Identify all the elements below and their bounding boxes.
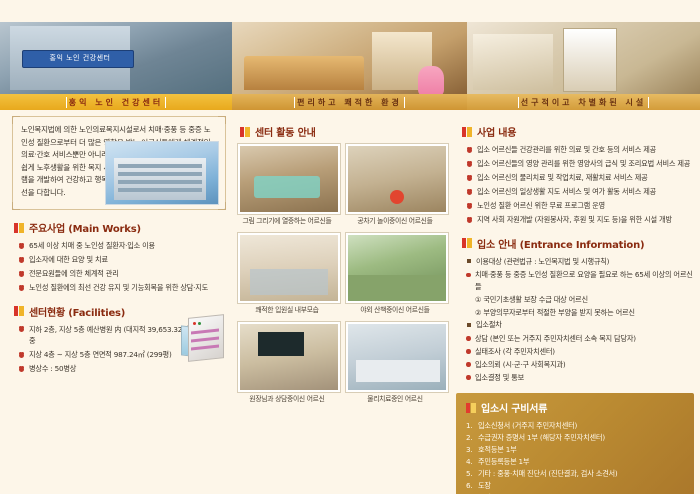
photo-caption: 공차기 놀이중이신 어르신들 xyxy=(346,217,444,226)
section-marker-icon xyxy=(462,238,472,248)
entrance-information-title: 입소 안내 (Entrance Information) xyxy=(477,236,644,251)
list-item: 상담 (본인 또는 거주지 주민자치센터 소속 복지 담당자) xyxy=(465,333,694,345)
banner-caption-2: 편리하고 쾌적한 환경 xyxy=(232,94,467,110)
photo-item: 공차기 놀이중이신 어르신들 xyxy=(346,144,444,226)
list-item: 입소 어르신들 건강관리를 위한 의료 및 간호 등의 서비스 제공 xyxy=(466,144,694,156)
photo-item: 야외 산책중이신 어르신들 xyxy=(346,233,444,315)
entrance-procedure-list: 상담 (본인 또는 거주지 주민자치센터 소속 복지 담당자) 실태조사 (각 … xyxy=(465,333,694,384)
list-item: 입소자에 대한 요양 및 치료 xyxy=(18,254,230,266)
corner-ornament-bl xyxy=(12,202,20,210)
outdoor-walk-photo xyxy=(346,233,448,303)
eligibility-note: ② 부양의무자로부터 적절한 부양을 받지 못하는 어르신 xyxy=(475,307,694,319)
corridor-interior-photo xyxy=(467,22,700,94)
photo-caption: 야외 산책중이신 어르신들 xyxy=(346,306,444,315)
list-item: 입소 어르신의 일상생활 지도 서비스 및 여가 활동 서비스 제공 xyxy=(466,186,694,198)
facilities-section: 센터현황 (Facilities) 지하 2층, 지상 5층 예산병원 内 (대… xyxy=(8,304,230,375)
photo-caption: 그림 그리기에 열중하는 어르신들 xyxy=(238,217,336,226)
facility-building-icon xyxy=(180,310,226,360)
required-documents-box: 입소시 구비서류 입소신청서 (거주지 주민자치센터) 수급권자 증명서 1부 … xyxy=(456,393,694,494)
right-column: 사업 내용 입소 어르신들 건강관리를 위한 의료 및 간호 등의 서비스 제공… xyxy=(456,114,694,494)
list-item: 실태조사 (각 주민자치센터) xyxy=(465,346,694,358)
section-marker-icon xyxy=(14,306,24,316)
section-marker-icon xyxy=(466,403,476,413)
photo-caption: 원장님과 상담중이신 어르신 xyxy=(238,395,336,404)
list-item: 노인성 질환에의 최선 건강 유지 및 기능회복을 위한 상담·지도 xyxy=(18,282,230,294)
patient-room-photo xyxy=(238,233,340,303)
activity-photo-grid: 그림 그리기에 열중하는 어르신들 공차기 놀이중이신 어르신들 쾌적한 입원실… xyxy=(238,144,452,404)
list-item: 지역 사회 자원개발 (자원봉사자, 후원 및 지도 등)을 위한 시설 개방 xyxy=(466,214,694,226)
middle-column: 센터 활동 안내 그림 그리기에 열중하는 어르신들 공차기 놀이중이신 어르신… xyxy=(234,114,452,411)
photo-caption: 물리치료중인 어르신 xyxy=(346,395,444,404)
list-item: 전문요원들에 의한 체계적 관리 xyxy=(18,268,230,280)
list-item: 치매·중풍 등 중증 노인성 질환으로 요양을 필요로 하는 65세 이상의 어… xyxy=(465,269,694,292)
physical-therapy-photo xyxy=(346,322,448,392)
group-heading: 입소절차 xyxy=(466,319,694,331)
top-photo-band: 홍익 노인 건강센터 xyxy=(0,22,700,94)
photo-row: 쾌적한 입원실 내부모습 야외 산책중이신 어르신들 xyxy=(238,233,452,315)
corner-ornament-br xyxy=(218,202,226,210)
center-building-photo xyxy=(105,141,219,205)
center-sign-text: 홍익 노인 건강센터 xyxy=(30,52,130,65)
banner-caption-row: 홍익 노인 건강센터 편리하고 쾌적한 환경 선구적이고 차별화된 시설 xyxy=(0,94,700,110)
section-marker-icon xyxy=(240,127,250,137)
list-item: 기타 : 중풍·치매 진단서 (진단결과, 검사 소견서) xyxy=(466,468,686,479)
list-item: 수급권자 증명서 1부 (해당자 주민자치센터) xyxy=(466,432,686,443)
lobby-interior-photo xyxy=(232,22,467,94)
list-item: 입소 어르신들의 영양 관리를 위한 영양사의 급식 및 조리요법 서비스 제공 xyxy=(466,158,694,170)
staff-figure xyxy=(418,66,444,94)
building-exterior-photo: 홍익 노인 건강센터 xyxy=(0,22,232,94)
eligibility-note: ① 국민기초생활 보장 수급 대상 어르신 xyxy=(475,294,694,306)
main-works-list: 65세 이상 치매 중 노인성 질환자·입소 이용 입소자에 대한 요양 및 치… xyxy=(18,240,230,294)
photo-item: 쾌적한 입원실 내부모습 xyxy=(238,233,336,315)
facility-icon-dot xyxy=(193,322,196,325)
banner-caption-1: 홍익 노인 건강센터 xyxy=(0,94,232,110)
banner-caption-3-text: 선구적이고 차별화된 시설 xyxy=(518,97,650,108)
list-item: 입소결정 및 통보 xyxy=(465,372,694,384)
group-heading: 이용대상 (관련법규 : 노인복지법 및 시행규칙) xyxy=(466,256,694,268)
business-contents-header: 사업 내용 xyxy=(462,124,694,139)
list-item: 호적등본 1부 xyxy=(466,444,686,455)
facility-icon-dot xyxy=(198,322,201,325)
facilities-title: 센터현황 (Facilities) xyxy=(29,304,125,319)
banner-caption-3: 선구적이고 차별화된 시설 xyxy=(467,94,700,110)
entrance-information-header: 입소 안내 (Entrance Information) xyxy=(462,236,694,251)
corner-ornament-tr xyxy=(218,116,226,124)
list-item: 65세 이상 치매 중 노인성 질환자·입소 이용 xyxy=(18,240,230,252)
list-item: 입소의뢰 (시·군·구 사회복지과) xyxy=(465,359,694,371)
photo-item: 물리치료중인 어르신 xyxy=(346,322,444,404)
ball-play-photo xyxy=(346,144,448,214)
required-documents-header: 입소시 구비서류 xyxy=(466,400,686,415)
list-item: 노인성 질환 어르신 위한 무료 프로그램 운영 xyxy=(466,200,694,212)
center-activities-title: 센터 활동 안내 xyxy=(255,124,316,139)
brochure-page: 홍익 노인 건강센터 홍익 노인 건강센터 편리하고 쾌적한 환경 선구적이고 … xyxy=(0,0,700,494)
photo-row: 원장님과 상담중이신 어르신 물리치료중인 어르신 xyxy=(238,322,452,404)
photo-item: 원장님과 상담중이신 어르신 xyxy=(238,322,336,404)
photo-row: 그림 그리기에 열중하는 어르신들 공차기 놀이중이신 어르신들 xyxy=(238,144,452,226)
photo-caption: 쾌적한 입원실 내부모습 xyxy=(238,306,336,315)
entrance-eligibility-list: 치매·중풍 등 중증 노인성 질환으로 요양을 필요로 하는 65세 이상의 어… xyxy=(465,269,694,292)
list-item: 입소 어르신의 물리치료 및 작업치료, 재활치료 서비스 제공 xyxy=(466,172,694,184)
section-marker-icon xyxy=(14,223,24,233)
required-documents-list: 입소신청서 (거주지 주민자치센터) 수급권자 증명서 1부 (해당자 주민자치… xyxy=(466,420,686,494)
photo-item: 그림 그리기에 열중하는 어르신들 xyxy=(238,144,336,226)
banner-caption-1-text: 홍익 노인 건강센터 xyxy=(66,97,166,108)
main-works-title: 주요사업 (Main Works) xyxy=(29,220,141,235)
entrance-procedure-group: 입소절차 xyxy=(466,319,694,331)
list-item: 병상수 : 50병상 xyxy=(18,363,230,375)
section-marker-icon xyxy=(462,127,472,137)
corner-ornament-tl xyxy=(12,116,20,124)
required-documents-title: 입소시 구비서류 xyxy=(481,400,547,415)
content-columns: 노인복지법에 의한 노인의료복지시설로서 치매·중풍 등 중증 노인성 질환으로… xyxy=(0,110,700,494)
list-item: 입소신청서 (거주지 주민자치센터) xyxy=(466,420,686,431)
left-column: 노인복지법에 의한 노인의료복지시설로서 치매·중풍 등 중증 노인성 질환으로… xyxy=(8,114,230,377)
list-item: 도장 xyxy=(466,480,686,491)
consultation-photo xyxy=(238,322,340,392)
center-activities-header: 센터 활동 안내 xyxy=(240,124,452,139)
business-contents-list: 입소 어르신들 건강관리를 위한 의료 및 간호 등의 서비스 제공 입소 어르… xyxy=(466,144,694,226)
entrance-eligibility-group: 이용대상 (관련법규 : 노인복지법 및 시행규칙) xyxy=(466,256,694,268)
intro-box: 노인복지법에 의한 노인의료복지시설로서 치매·중풍 등 중증 노인성 질환으로… xyxy=(12,116,226,210)
art-activity-photo xyxy=(238,144,340,214)
banner-caption-2-text: 편리하고 쾌적한 환경 xyxy=(294,97,405,108)
business-contents-title: 사업 내용 xyxy=(477,124,516,139)
list-item: 주민등록등본 1부 xyxy=(466,456,686,467)
main-works-header: 주요사업 (Main Works) xyxy=(14,220,230,235)
